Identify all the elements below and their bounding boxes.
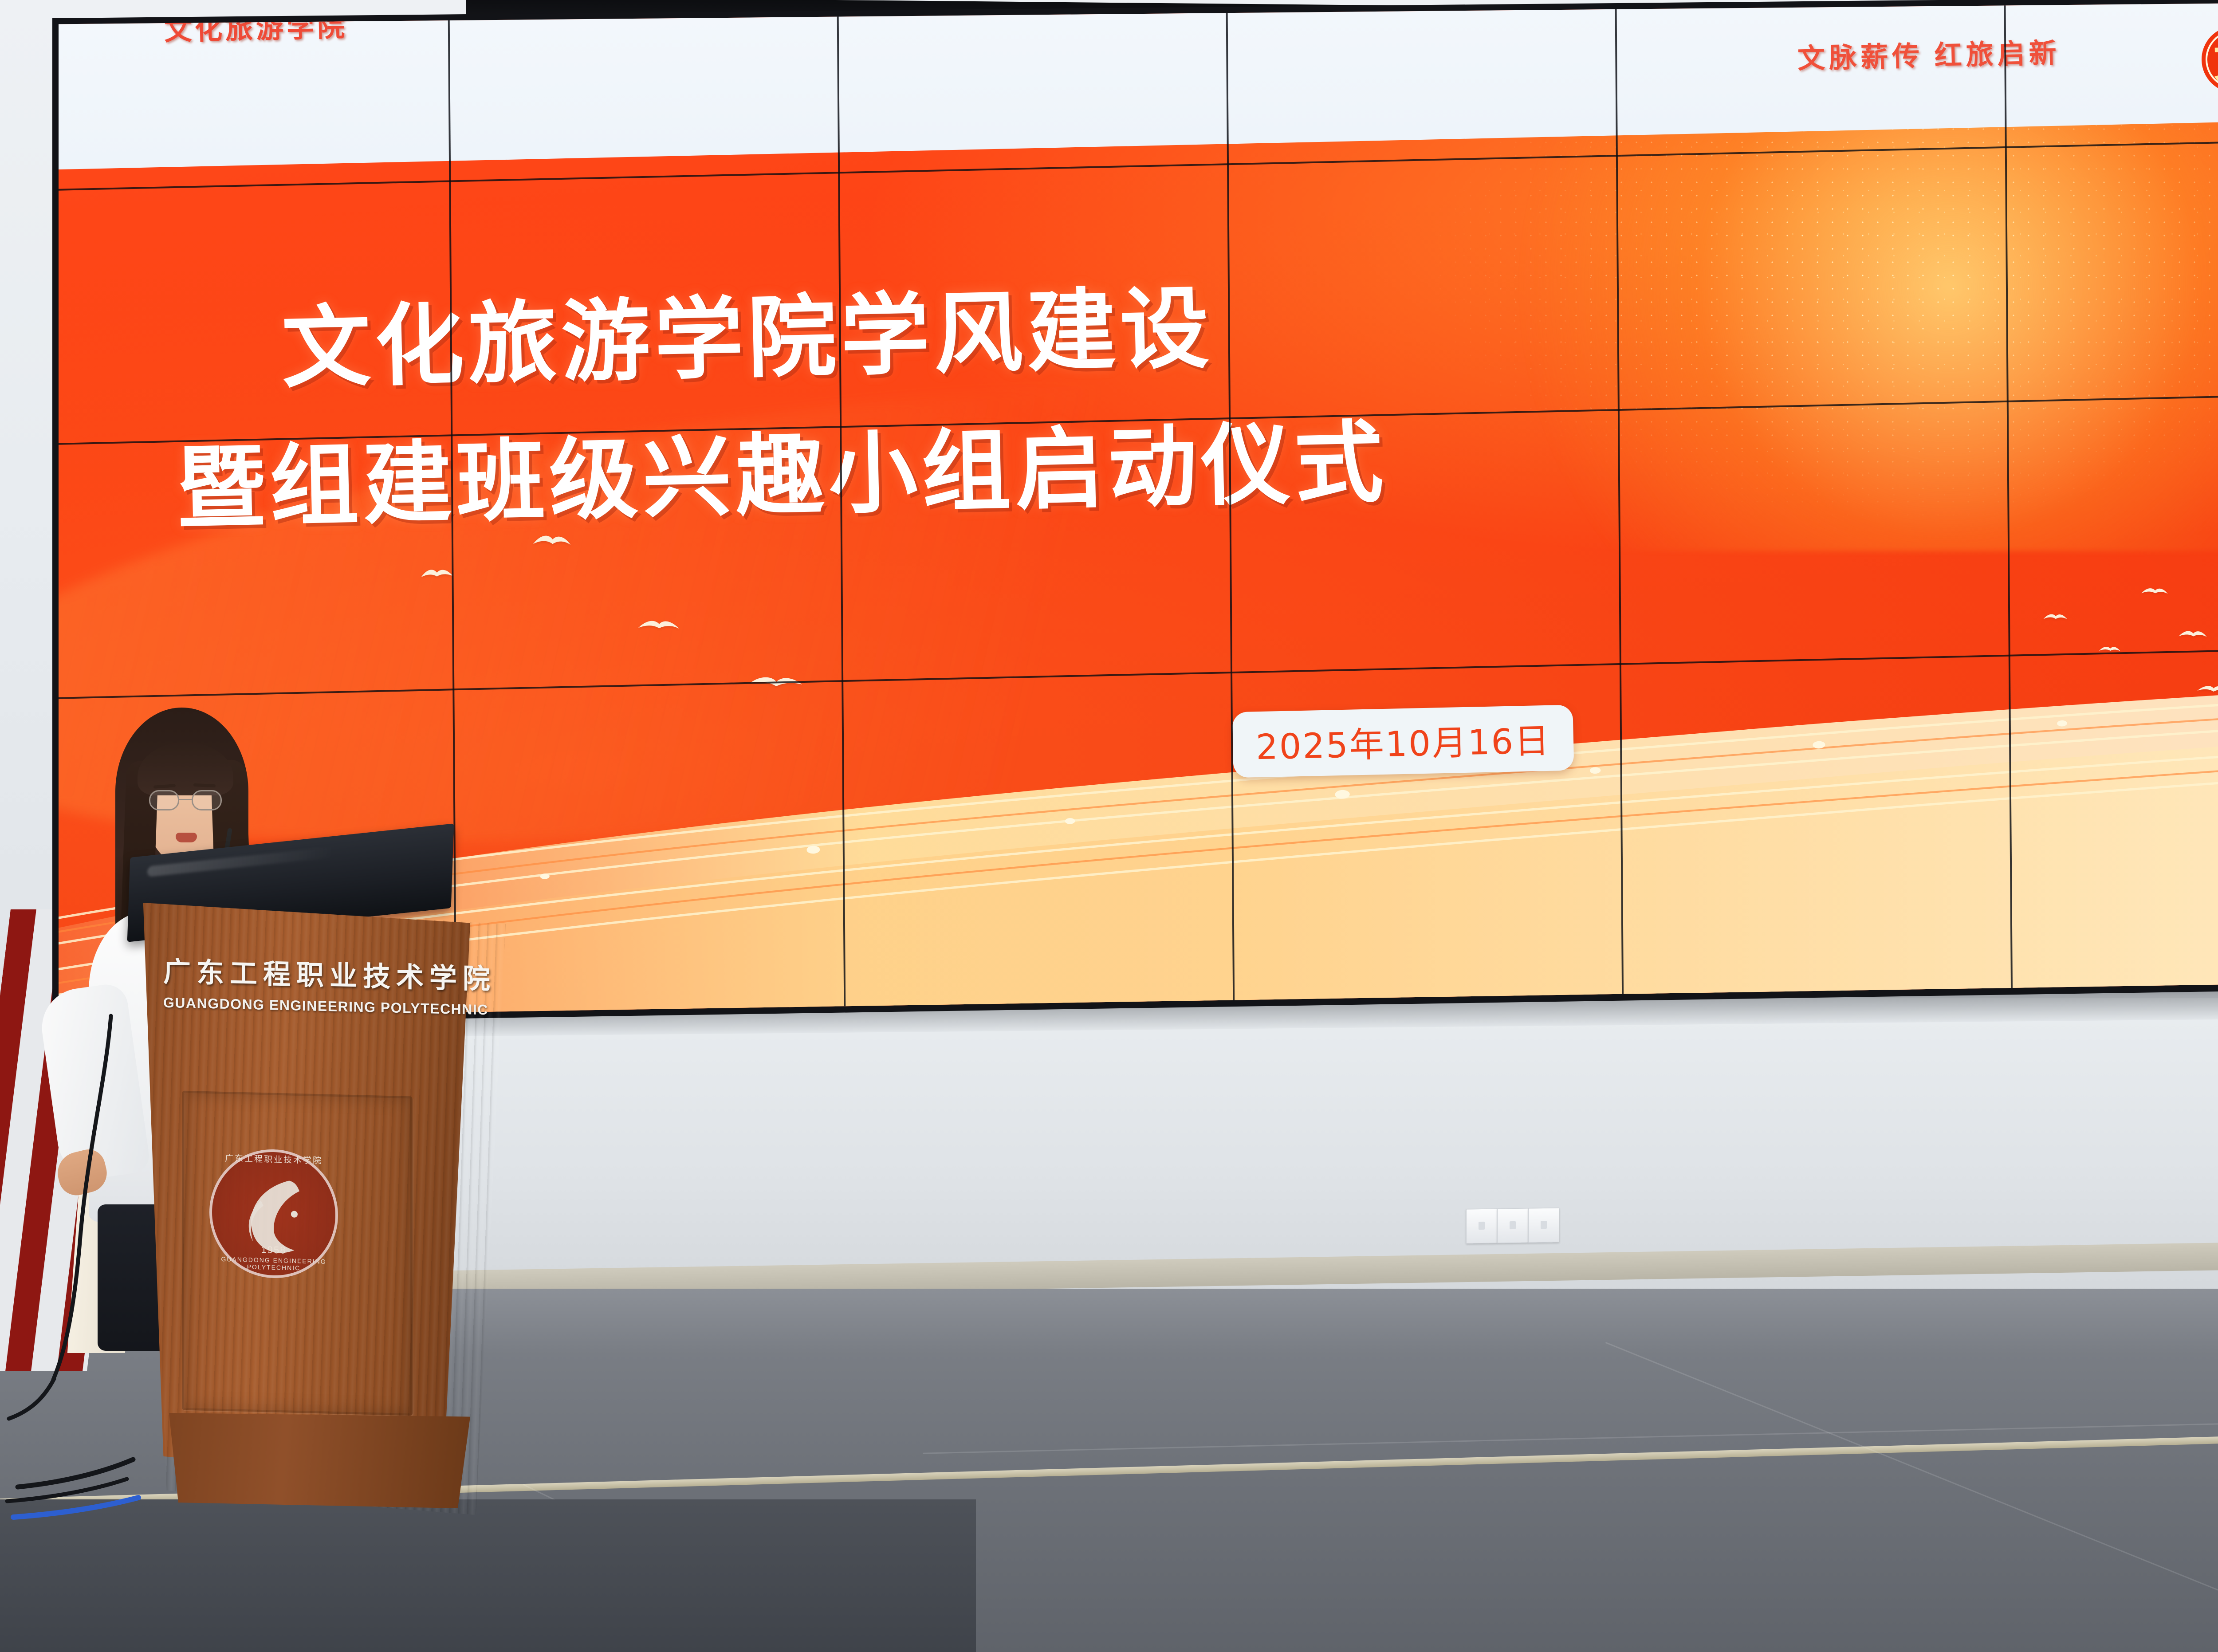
wall-socket-group[interactable] bbox=[1466, 1208, 1559, 1244]
culture-tourism-badge-icon: 文 bbox=[2201, 25, 2218, 93]
slide-slogan: 文脉薪传 红旅启新 bbox=[1797, 31, 2061, 76]
glasses-icon bbox=[149, 790, 222, 810]
lectern-sign-chinese: 广东工程职业技术学院 bbox=[163, 949, 447, 996]
wall-socket[interactable] bbox=[1497, 1208, 1528, 1243]
badge-glyph: 文 bbox=[2201, 24, 2218, 91]
speaker-mouth bbox=[176, 833, 197, 842]
slide-title-line1: 文化旅游学院学风建设 bbox=[280, 256, 1215, 405]
wall-socket[interactable] bbox=[1466, 1208, 1497, 1243]
lectern-sign: 广东工程职业技术学院 GUANGDONG ENGINEERING POLYTEC… bbox=[163, 949, 447, 1018]
slide-date-text: 2025年10月16日 bbox=[1255, 721, 1551, 767]
cable-group bbox=[0, 1011, 311, 1544]
photo-scene: 热烈祝贺 bbox=[0, 0, 2218, 1652]
cable bbox=[9, 1379, 54, 1419]
glasses-bridge bbox=[179, 799, 192, 800]
slide-date-chip: 2025年10月16日 bbox=[1232, 705, 1574, 778]
glasses-lens-left bbox=[149, 790, 179, 810]
cable bbox=[7, 1479, 127, 1501]
wall-socket[interactable] bbox=[1528, 1208, 1559, 1243]
slide-title-line2: 暨组建班级兴趣小组启动仪式 bbox=[175, 390, 1389, 545]
cable bbox=[53, 1016, 111, 1380]
floor-tile-line bbox=[1605, 1342, 2218, 1652]
glasses-lens-right bbox=[192, 790, 222, 810]
